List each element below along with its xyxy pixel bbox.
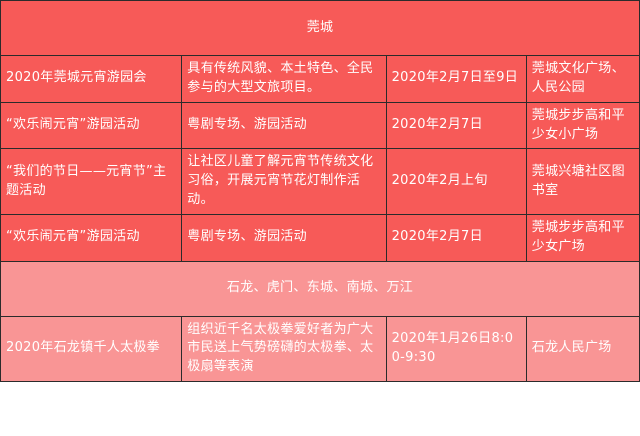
activity-date-cell: 2020年1月26日8:00-9:30 xyxy=(386,316,526,382)
activity-description-cell-text: 组织近千名太极拳爱好者为广大市民送上气势磅礴的太极拳、太极扇等表演 xyxy=(187,321,380,378)
activity-location-cell-text: 莞城兴塘社区图书室 xyxy=(532,163,634,201)
activity-location-cell: 莞城步步高和平少女小广场 xyxy=(526,102,639,149)
activity-name-cell: 2020年莞城元宵游园会 xyxy=(1,56,182,103)
table-row: 2020年莞城元宵游园会具有传统风貌、本土特色、全民参与的大型文旅项目。2020… xyxy=(1,56,640,103)
activity-date-cell-text: 2020年2月7日 xyxy=(392,116,521,135)
activity-location-cell-text: 莞城文化广场、人民公园 xyxy=(532,60,634,98)
table-row: 2020年石龙镇千人太极拳组织近千名太极拳爱好者为广大市民送上气势磅礴的太极拳、… xyxy=(1,316,640,382)
activity-name-cell-text: 2020年莞城元宵游园会 xyxy=(6,69,176,88)
activity-date-cell: 2020年2月7日 xyxy=(386,102,526,149)
activity-location-cell-text: 石龙人民广场 xyxy=(532,339,634,358)
section-header-row: 莞城 xyxy=(1,1,640,56)
activity-date-cell-text: 2020年2月7日至9日 xyxy=(392,69,521,88)
activity-location-cell: 石龙人民广场 xyxy=(526,316,639,382)
section-header-guancheng: 莞城 xyxy=(1,1,640,56)
activity-description-cell: 具有传统风貌、本土特色、全民参与的大型文旅项目。 xyxy=(182,56,386,103)
activity-date-cell: 2020年2月上旬 xyxy=(386,149,526,215)
activity-location-cell: 莞城兴塘社区图书室 xyxy=(526,149,639,215)
activity-name-cell-text: “欢乐闹元宵”游园活动 xyxy=(6,228,176,247)
activity-location-cell: 莞城步步高和平少女广场 xyxy=(526,214,639,261)
activity-description-cell: 粤剧专场、游园活动 xyxy=(182,102,386,149)
activity-location-cell: 莞城文化广场、人民公园 xyxy=(526,56,639,103)
activity-name-cell: “欢乐闹元宵”游园活动 xyxy=(1,214,182,261)
table-row: “我们的节日——元宵节”主题活动让社区儿童了解元宵节传统文化习俗，开展元宵节花灯… xyxy=(1,149,640,215)
activity-date-cell-text: 2020年2月7日 xyxy=(392,228,521,247)
activity-description-cell-text: 具有传统风貌、本土特色、全民参与的大型文旅项目。 xyxy=(187,60,380,98)
activity-name-cell-text: “我们的节日——元宵节”主题活动 xyxy=(6,163,176,201)
section-header-row: 石龙、虎门、东城、南城、万江 xyxy=(1,261,640,316)
activity-date-cell: 2020年2月7日至9日 xyxy=(386,56,526,103)
section-header-shilong-humen-dongcheng-nancheng-wanjiang: 石龙、虎门、东城、南城、万江 xyxy=(1,261,640,316)
table-row: “欢乐闹元宵”游园活动粤剧专场、游园活动2020年2月7日莞城步步高和平少女广场 xyxy=(1,214,640,261)
activity-name-cell: “我们的节日——元宵节”主题活动 xyxy=(1,149,182,215)
activity-name-cell: “欢乐闹元宵”游园活动 xyxy=(1,102,182,149)
activity-description-cell: 粤剧专场、游园活动 xyxy=(182,214,386,261)
activity-date-cell-text: 2020年2月上旬 xyxy=(392,172,521,191)
activity-schedule-table: 莞城2020年莞城元宵游园会具有传统风貌、本土特色、全民参与的大型文旅项目。20… xyxy=(0,0,640,382)
activity-name-cell-text: 2020年石龙镇千人太极拳 xyxy=(6,339,176,358)
activity-date-cell: 2020年2月7日 xyxy=(386,214,526,261)
table-body: 莞城2020年莞城元宵游园会具有传统风貌、本土特色、全民参与的大型文旅项目。20… xyxy=(1,1,640,382)
activity-description-cell: 让社区儿童了解元宵节传统文化习俗，开展元宵节花灯制作活动。 xyxy=(182,149,386,215)
activity-location-cell-text: 莞城步步高和平少女广场 xyxy=(532,219,634,257)
activity-description-cell-text: 粤剧专场、游园活动 xyxy=(187,228,380,247)
activity-name-cell-text: “欢乐闹元宵”游园活动 xyxy=(6,116,176,135)
activity-description-cell: 组织近千名太极拳爱好者为广大市民送上气势磅礴的太极拳、太极扇等表演 xyxy=(182,316,386,382)
activity-name-cell: 2020年石龙镇千人太极拳 xyxy=(1,316,182,382)
table-row: “欢乐闹元宵”游园活动粤剧专场、游园活动2020年2月7日莞城步步高和平少女小广… xyxy=(1,102,640,149)
activity-description-cell-text: 粤剧专场、游园活动 xyxy=(187,116,380,135)
activity-description-cell-text: 让社区儿童了解元宵节传统文化习俗，开展元宵节花灯制作活动。 xyxy=(187,153,380,210)
activity-location-cell-text: 莞城步步高和平少女小广场 xyxy=(532,107,634,145)
activity-date-cell-text: 2020年1月26日8:00-9:30 xyxy=(392,330,521,368)
